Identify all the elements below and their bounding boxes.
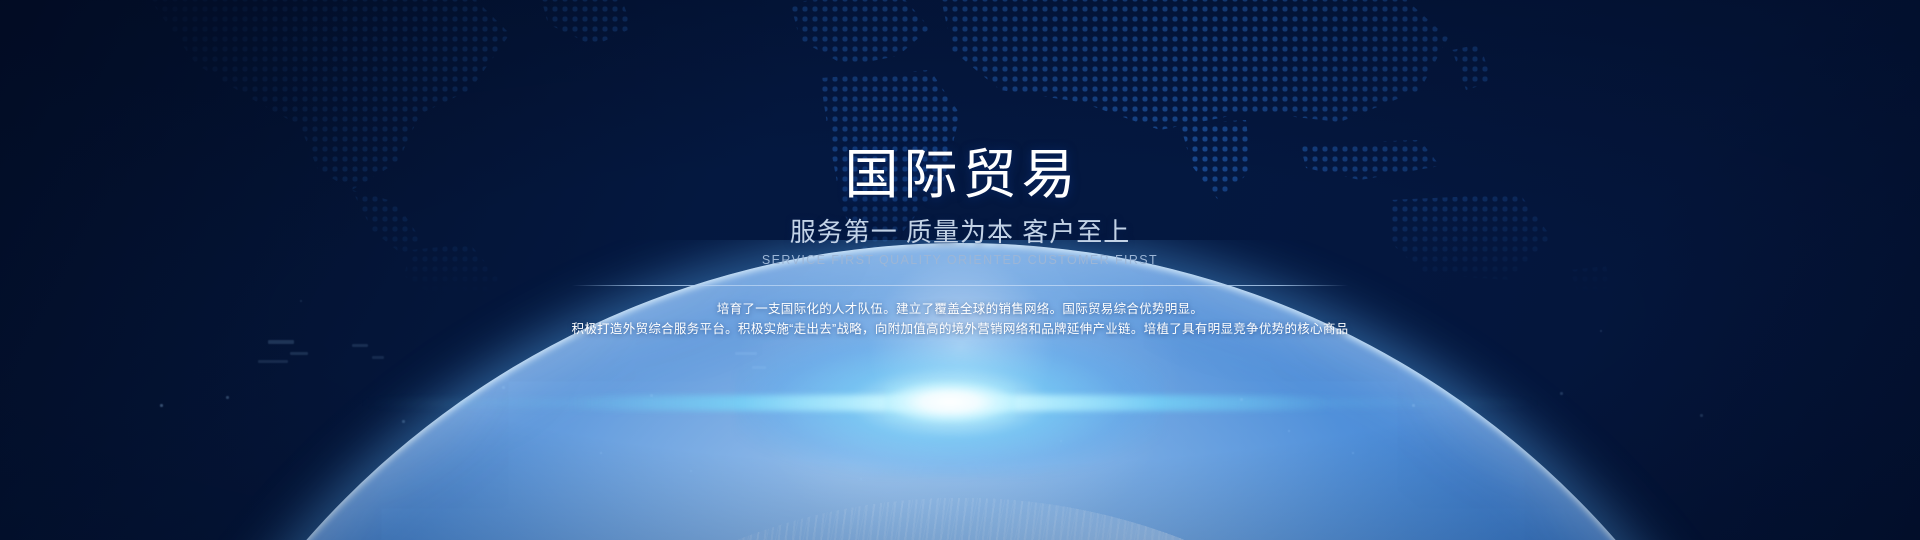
speckle [1412,404,1415,407]
speckle [1240,398,1243,401]
speckle [1060,440,1062,442]
speckle [752,366,766,369]
page-title: 国际贸易 [0,0,1920,204]
speckle [1700,414,1703,417]
speckle [352,344,368,347]
speckle [372,356,384,359]
speckle [650,394,653,397]
speckle [290,352,308,355]
speckle [502,386,505,389]
description-block: 培育了一支国际化的人才队伍。建立了覆盖全球的销售网络。国际贸易综合优势明显。 积… [0,299,1920,339]
subtitle-english: SERVICE FIRST QUALITY ORIENTED CUSTOMER … [0,253,1920,268]
speckle [402,420,405,423]
speckle [268,340,294,344]
speckle [1560,392,1563,395]
speckle [860,478,862,480]
divider [572,285,1348,286]
speckle [735,352,757,355]
subtitle-chinese: 服务第一 质量为本 客户至上 [0,217,1920,248]
speckle [258,360,288,363]
international-trade-hero-banner: 国际贸易 服务第一 质量为本 客户至上 SERVICE FIRST QUALIT… [0,0,1920,540]
speckle [1288,430,1290,432]
speckle [226,396,229,399]
speckle [690,470,692,472]
description-line: 培育了一支国际化的人才队伍。建立了覆盖全球的销售网络。国际贸易综合优势明显。 [0,299,1920,319]
speckle [160,404,163,407]
banner-content: 国际贸易 服务第一 质量为本 客户至上 SERVICE FIRST QUALIT… [0,0,1920,339]
speckle [1352,452,1354,454]
description-line: 积极打造外贸综合服务平台。积极实施“走出去”战略，向附加值高的境外营销网络和品牌… [0,319,1920,339]
speckle [600,452,602,454]
